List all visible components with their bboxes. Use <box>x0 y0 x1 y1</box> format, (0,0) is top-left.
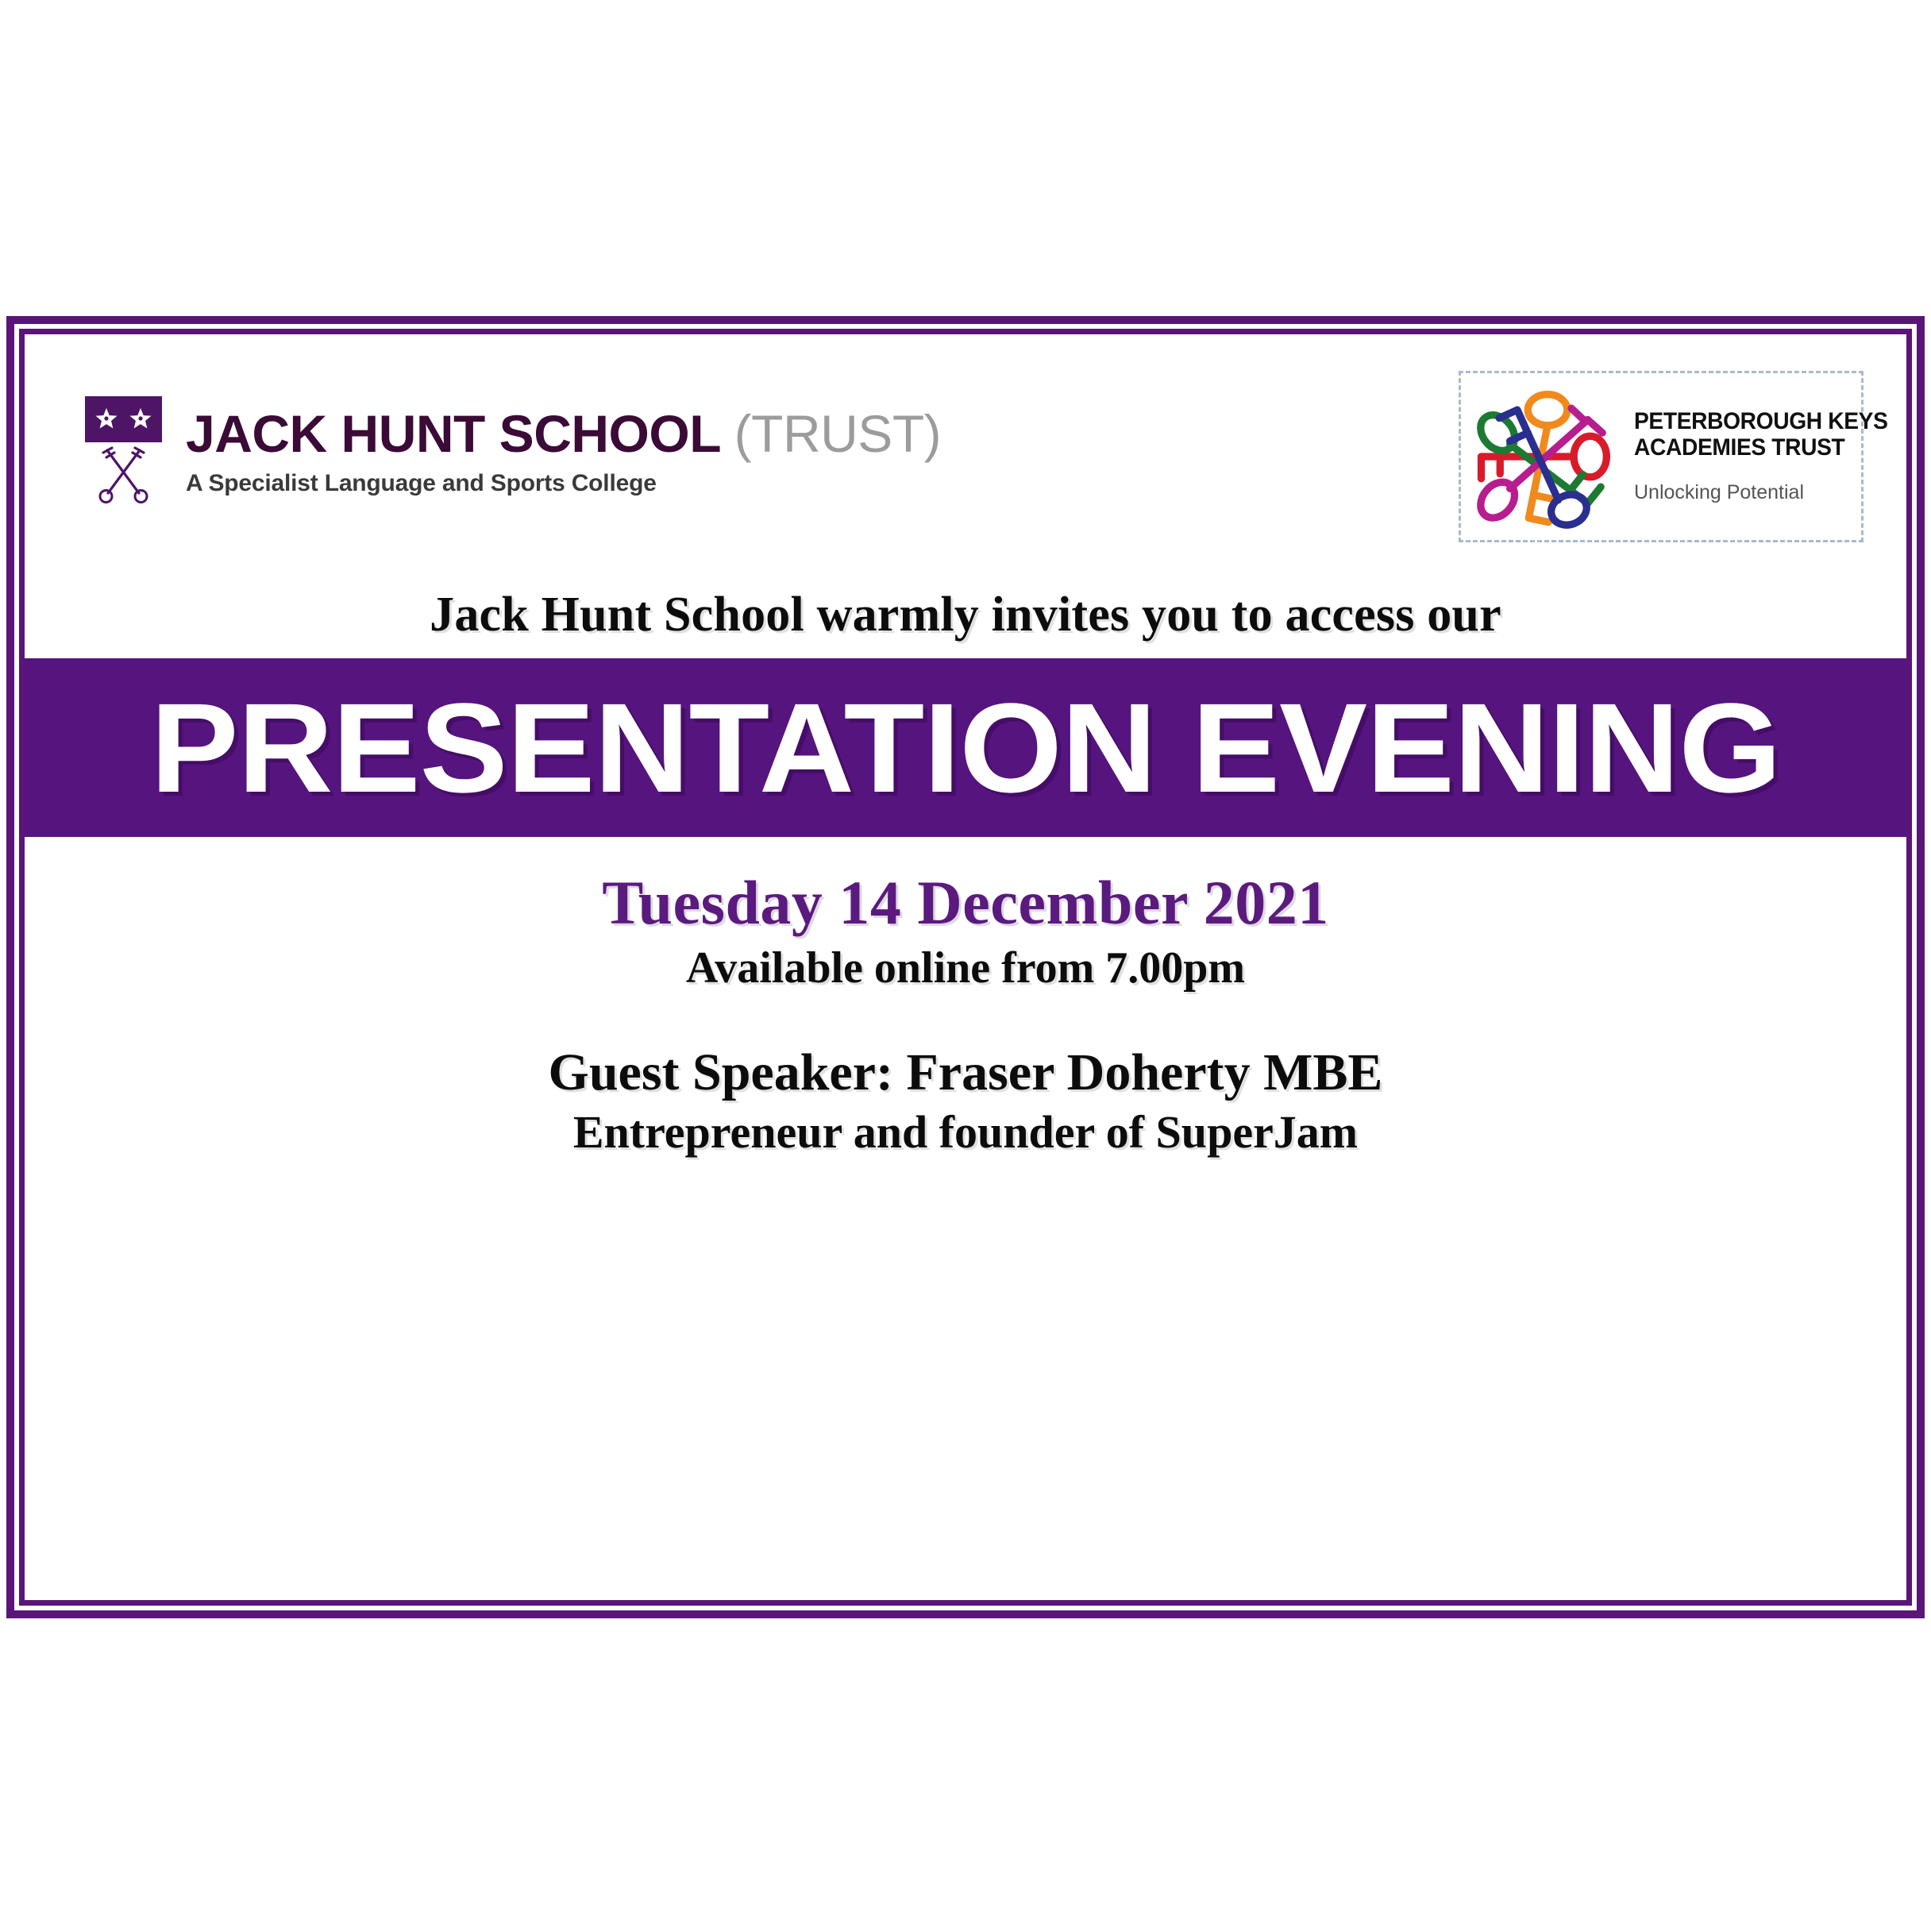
jack-hunt-text-block: JACK HUNT SCHOOL (TRUST) A Specialist La… <box>186 393 941 497</box>
presentation-evening-banner: PRESENTATION EVENING <box>25 658 1906 837</box>
event-details: Tuesday 14 December 2021 Available onlin… <box>25 868 1906 1157</box>
poster-header: JACK HUNT SCHOOL (TRUST) A Specialist La… <box>25 334 1906 573</box>
jack-hunt-title: JACK HUNT SCHOOL (TRUST) <box>186 407 941 461</box>
jack-hunt-title-primary: JACK HUNT SCHOOL <box>186 404 720 463</box>
poster-content: JACK HUNT SCHOOL (TRUST) A Specialist La… <box>25 334 1906 1600</box>
peterborough-keys-line1: PETERBOROUGH KEYS <box>1634 409 1888 434</box>
peterborough-keys-icon <box>1463 379 1628 534</box>
poster-outer-frame: JACK HUNT SCHOOL (TRUST) A Specialist La… <box>6 316 1925 1618</box>
poster-page: JACK HUNT SCHOOL (TRUST) A Specialist La… <box>0 0 1931 1932</box>
jack-hunt-school-logo: JACK HUNT SCHOOL (TRUST) A Specialist La… <box>82 393 941 530</box>
peterborough-keys-text-block: PETERBOROUGH KEYS ACADEMIES TRUST Unlock… <box>1634 409 1904 503</box>
guest-speaker: Guest Speaker: Fraser Doherty MBE <box>25 1044 1906 1102</box>
jack-hunt-subtitle: A Specialist Language and Sports College <box>186 470 941 497</box>
peterborough-keys-trust-logo: PETERBOROUGH KEYS ACADEMIES TRUST Unlock… <box>1459 371 1864 542</box>
guest-speaker-subtitle: Entrepreneur and founder of SuperJam <box>25 1107 1906 1158</box>
peterborough-keys-line2: ACADEMIES TRUST <box>1634 435 1888 461</box>
peterborough-keys-tagline: Unlocking Potential <box>1634 481 1904 504</box>
jack-hunt-title-secondary: (TRUST) <box>734 404 941 463</box>
invitation-line: Jack Hunt School warmly invites you to a… <box>25 587 1906 643</box>
event-availability: Available online from 7.00pm <box>25 943 1906 993</box>
banner-title: PRESENTATION EVENING <box>150 684 1780 812</box>
poster-inner-frame: JACK HUNT SCHOOL (TRUST) A Specialist La… <box>19 329 1912 1606</box>
event-date: Tuesday 14 December 2021 <box>25 868 1906 937</box>
jack-hunt-shield-icon <box>82 393 165 530</box>
